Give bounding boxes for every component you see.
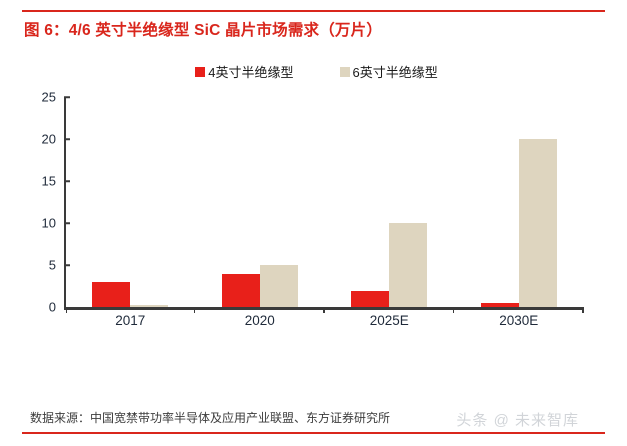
chart-legend: 4英寸半绝缘型 6英寸半绝缘型 [22, 62, 605, 81]
bar-series-1[interactable] [130, 305, 168, 308]
footer-divider [22, 432, 605, 434]
bars-container [66, 97, 584, 307]
chart-plot-area: 25 20 15 10 5 0 [22, 97, 605, 337]
x-tick-label: 2030E [454, 313, 584, 328]
y-axis: 25 20 15 10 5 0 [22, 97, 64, 307]
figure-footer: 数据来源：中国宽禁带功率半导体及应用产业联盟、东方证券研究所 [22, 409, 605, 434]
bar-series-0[interactable] [92, 282, 130, 307]
bar-series-0[interactable] [351, 291, 389, 308]
bar-group-2017 [66, 97, 196, 307]
legend-item-series-0[interactable]: 4英寸半绝缘型 [195, 62, 293, 81]
legend-item-series-1[interactable]: 6英寸半绝缘型 [340, 62, 438, 81]
bar-series-0[interactable] [222, 274, 260, 308]
bar-group-2020 [195, 97, 325, 307]
y-tick-label: 25 [42, 90, 56, 105]
x-tick-label: 2025E [325, 313, 455, 328]
x-tick-label: 2017 [66, 313, 196, 328]
y-tick-label: 20 [42, 132, 56, 147]
x-tick-label: 2020 [195, 313, 325, 328]
bar-series-0[interactable] [481, 303, 519, 307]
bar-group-2025E [325, 97, 455, 307]
legend-swatch-icon [195, 67, 205, 77]
y-tick-label: 10 [42, 216, 56, 231]
bar-series-1[interactable] [519, 139, 557, 307]
figure-card: 图 6：4/6 英寸半绝缘型 SiC 晶片市场需求（万片） 4英寸半绝缘型 6英… [22, 10, 605, 434]
bar-group-2030E [454, 97, 584, 307]
y-tick-label: 15 [42, 174, 56, 189]
source-note: 数据来源：中国宽禁带功率半导体及应用产业联盟、东方证券研究所 [22, 409, 605, 432]
y-tick-label: 0 [49, 300, 56, 315]
legend-label: 4英寸半绝缘型 [208, 62, 293, 81]
legend-swatch-icon [340, 67, 350, 77]
x-axis: 2017 2020 2025E 2030E [66, 313, 584, 328]
legend-label: 6英寸半绝缘型 [353, 62, 438, 81]
bar-series-1[interactable] [260, 265, 298, 307]
y-tick-label: 5 [49, 258, 56, 273]
page-title: 图 6：4/6 英寸半绝缘型 SiC 晶片市场需求（万片） [22, 12, 605, 40]
bar-series-1[interactable] [389, 223, 427, 307]
